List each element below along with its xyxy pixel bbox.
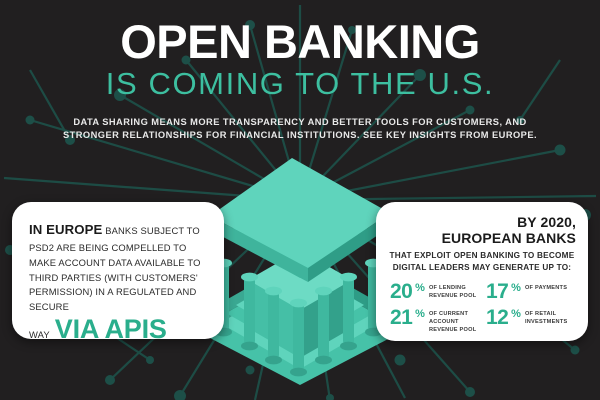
left-card-body: IN EUROPE BANKS SUBJECT TO PSD2 ARE BEIN…	[12, 202, 224, 343]
stat-item: 21 % OF CURRENT ACCOUNT REVENUE POOL	[390, 308, 482, 334]
stat-value: 21	[390, 308, 412, 327]
stat-item: 12 % OF RETAIL INVESTMENTS	[486, 308, 578, 334]
card-in-europe: IN EUROPE BANKS SUBJECT TO PSD2 ARE BEIN…	[12, 202, 224, 339]
via-apis-highlight: VIA APIS	[55, 316, 167, 343]
stat-item: 17 % OF PAYMENTS	[486, 282, 578, 301]
page-title: OPEN BANKING	[0, 18, 600, 65]
stat-unit: %	[511, 309, 521, 320]
left-card-text: BANKS SUBJECT TO PSD2 ARE BEING COMPELLE…	[29, 225, 201, 312]
right-card-heading-line-2: EUROPEAN BANKS	[388, 230, 576, 246]
right-card-heading: BY 2020, EUROPEAN BANKS	[376, 202, 588, 246]
page-subtitle: IS COMING TO THE U.S.	[0, 68, 600, 99]
deck-line-1: DATA SHARING MEANS MORE TRANSPARENCY AND…	[0, 116, 600, 129]
infographic-canvas: OPEN BANKING IS COMING TO THE U.S. DATA …	[0, 0, 600, 400]
stat-value: 20	[390, 282, 412, 301]
stat-unit: %	[415, 309, 425, 320]
bank-roof-main	[210, 158, 390, 282]
card-by-2020: BY 2020, EUROPEAN BANKS THAT EXPLOIT OPE…	[376, 202, 588, 341]
stat-item: 20 % OF LENDING REVENUE POOL	[390, 282, 482, 301]
stat-label: OF RETAIL INVESTMENTS	[525, 310, 578, 326]
page-deck: DATA SHARING MEANS MORE TRANSPARENCY AND…	[0, 116, 600, 143]
via-apis-line: WAY VIA APIS	[29, 316, 210, 343]
right-card-subtext-line-2: DIGITAL LEADERS MAY GENERATE UP TO:	[376, 262, 588, 274]
stat-unit: %	[415, 283, 425, 294]
isometric-bank-building	[196, 150, 404, 385]
stat-label: OF PAYMENTS	[525, 284, 567, 292]
stat-value: 12	[486, 308, 508, 327]
stat-value: 17	[486, 282, 508, 301]
right-card-heading-line-1: BY 2020,	[388, 214, 576, 230]
right-card-subtext: THAT EXPLOIT OPEN BANKING TO BECOME DIGI…	[376, 250, 588, 273]
stats-grid: 20 % OF LENDING REVENUE POOL 17 % OF PAY…	[376, 274, 588, 335]
stat-label: OF LENDING REVENUE POOL	[429, 284, 482, 300]
stat-label: OF CURRENT ACCOUNT REVENUE POOL	[429, 310, 482, 334]
deck-line-2: STRONGER RELATIONSHIPS FOR FINANCIAL INS…	[0, 129, 600, 142]
stat-unit: %	[511, 283, 521, 294]
left-card-way: WAY	[29, 328, 50, 343]
right-card-subtext-line-1: THAT EXPLOIT OPEN BANKING TO BECOME	[376, 250, 588, 262]
left-card-lede: IN EUROPE	[29, 222, 102, 237]
